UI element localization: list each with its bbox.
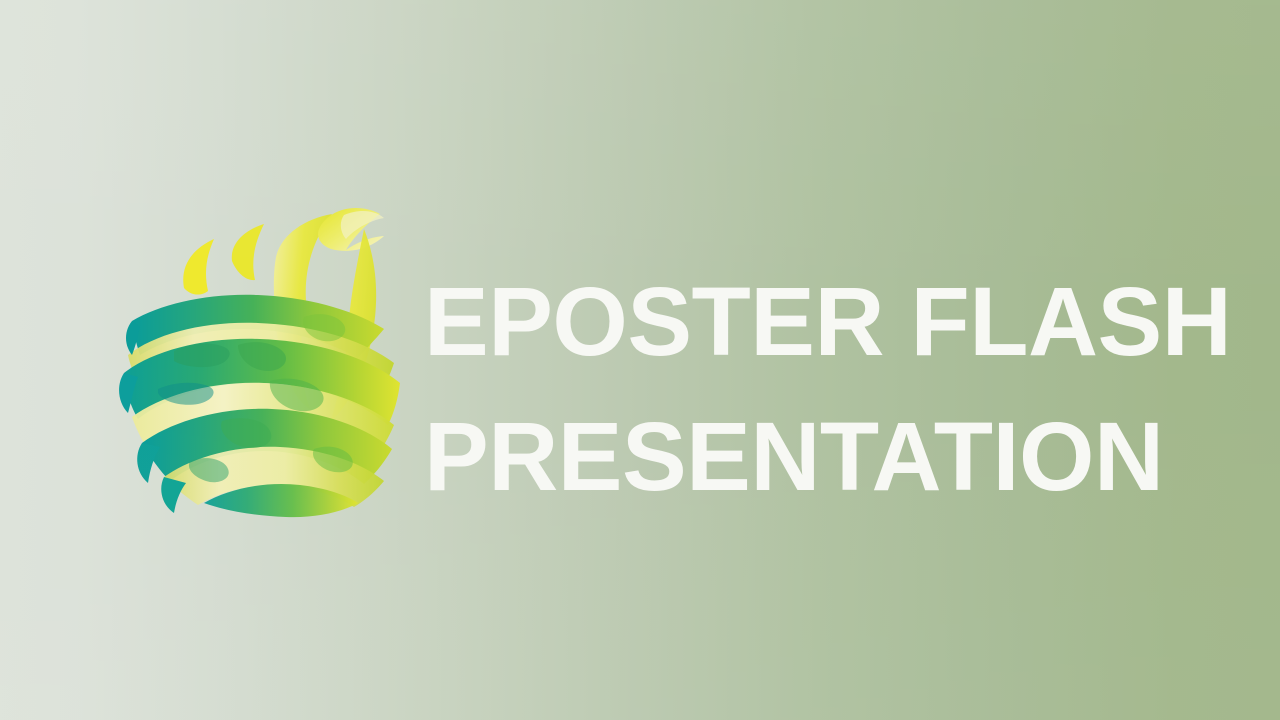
- title-line-1: EPOSTER FLASH: [424, 254, 1224, 389]
- title-slide: EPOSTER FLASH PRESENTATION: [0, 0, 1280, 720]
- title-line-2: PRESENTATION: [424, 389, 1224, 524]
- slide-title: EPOSTER FLASH PRESENTATION: [424, 254, 1224, 524]
- spiral-ribbon-globe-logo: [118, 205, 408, 517]
